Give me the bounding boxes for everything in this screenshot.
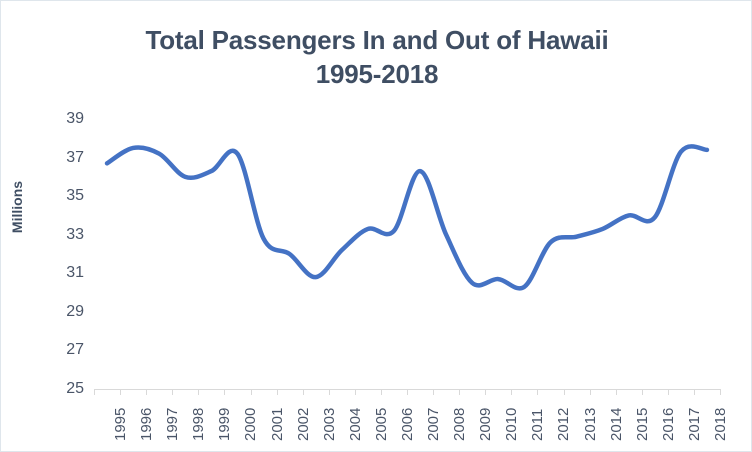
x-tick-label: 2016 [661, 391, 676, 441]
x-tick-label: 2014 [609, 391, 624, 441]
y-tick-label: 37 [24, 150, 84, 166]
line-chart-svg [94, 119, 720, 389]
series-line-total-passengers [107, 146, 707, 288]
chart-canvas: Total Passengers In and Out of Hawaii 19… [0, 0, 752, 452]
x-tick-label: 2007 [426, 391, 441, 441]
x-tick-label: 1997 [165, 391, 180, 441]
x-tick-label: 2012 [556, 391, 571, 441]
x-tick-label: 1996 [139, 391, 154, 441]
x-tick-label: 2009 [478, 391, 493, 441]
x-tick-label: 2008 [452, 391, 467, 441]
x-tick-label: 2001 [270, 391, 285, 441]
x-tick-mark [94, 390, 95, 395]
plot-area [94, 119, 720, 389]
x-tick-label: 2005 [374, 391, 389, 441]
x-tick-label: 2017 [687, 391, 702, 441]
x-tick-label: 2015 [635, 391, 650, 441]
y-tick-label: 31 [24, 265, 84, 281]
x-tick-label: 2004 [348, 391, 363, 441]
x-tick-label: 2011 [530, 391, 545, 441]
x-tick-label: 2003 [322, 391, 337, 441]
chart-title-line1: Total Passengers In and Out of Hawaii [145, 25, 608, 55]
y-tick-label: 33 [24, 227, 84, 243]
x-tick-label: 2010 [504, 391, 519, 441]
y-tick-label: 35 [24, 188, 84, 204]
x-axis-tick-labels: 1995199619971998199920002001200220032004… [94, 397, 721, 447]
chart-title-line2: 1995-2018 [1, 57, 752, 91]
y-axis-tick-labels: 3937353331292725 [24, 119, 84, 389]
x-tick-label: 1995 [113, 391, 128, 441]
y-tick-label: 29 [24, 304, 84, 320]
x-tick-label: 2006 [400, 391, 415, 441]
y-tick-label: 27 [24, 342, 84, 358]
x-tick-label: 1998 [191, 391, 206, 441]
x-tick-label: 2018 [713, 391, 728, 441]
x-tick-label: 1999 [217, 391, 232, 441]
x-tick-label: 2000 [243, 391, 258, 441]
x-tick-label: 2013 [583, 391, 598, 441]
x-tick-label: 2002 [296, 391, 311, 441]
chart-title: Total Passengers In and Out of Hawaii 19… [1, 23, 752, 91]
y-tick-label: 25 [24, 381, 84, 397]
y-axis-title: Millions [9, 147, 25, 267]
y-tick-label: 39 [24, 111, 84, 127]
